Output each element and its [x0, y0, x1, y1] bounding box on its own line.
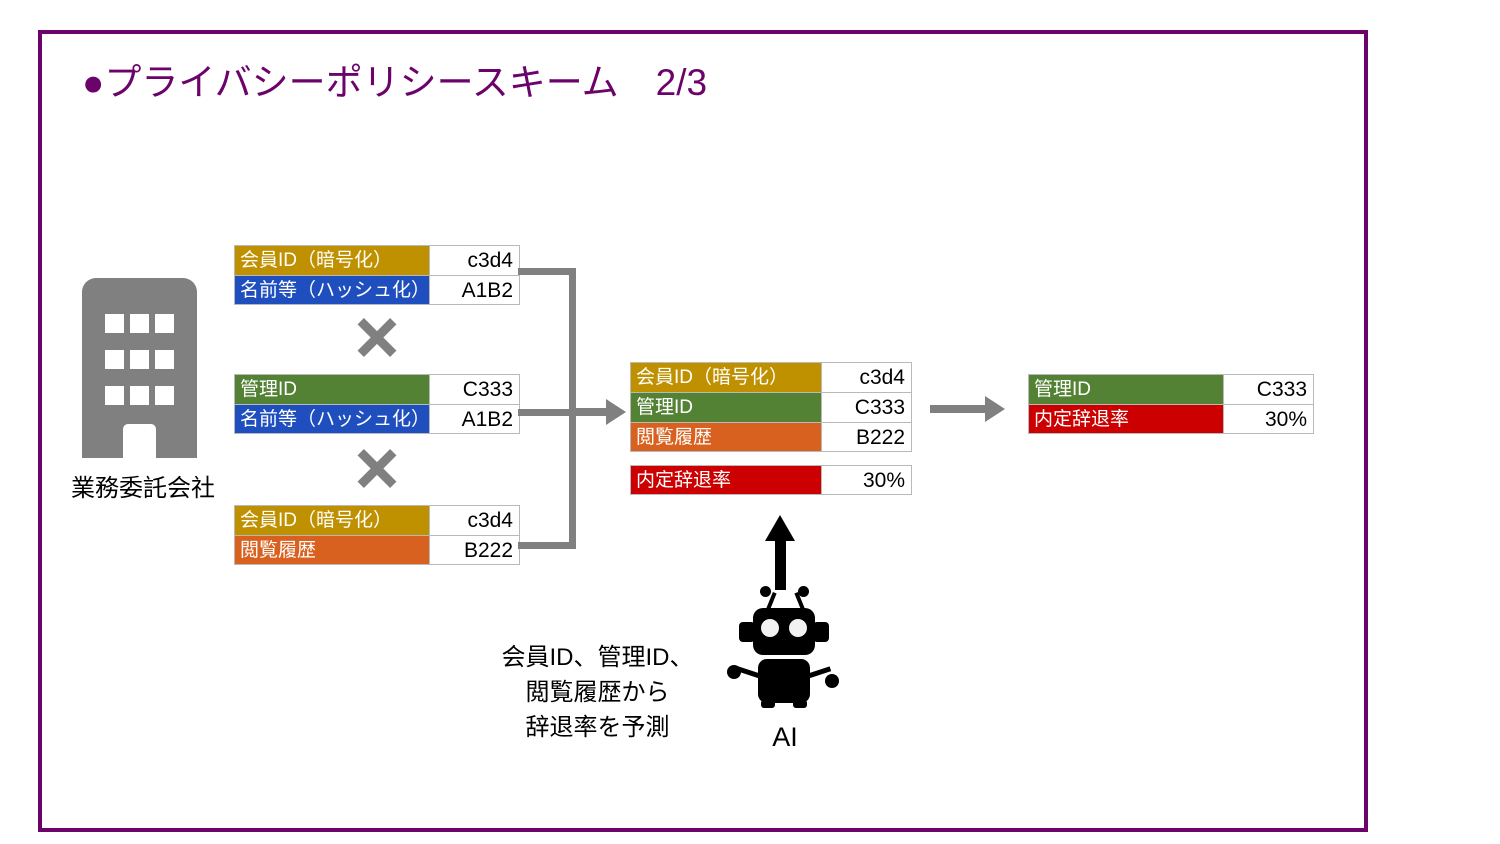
- table-row: 内定辞退率 30%: [630, 465, 912, 495]
- row-value: A1B2: [430, 275, 520, 305]
- admin-name-table: 管理ID C333 名前等（ハッシュ化） A1B2: [234, 374, 520, 434]
- row-value: 30%: [1224, 404, 1314, 434]
- row-key: 名前等（ハッシュ化）: [234, 275, 430, 305]
- row-key: 内定辞退率: [1028, 404, 1224, 434]
- member-name-table: 会員ID（暗号化） c3d4 名前等（ハッシュ化） A1B2: [234, 245, 520, 305]
- table-row: 内定辞退率 30%: [1028, 404, 1314, 434]
- building-window: [105, 386, 124, 405]
- prediction-table: 内定辞退率 30%: [630, 465, 912, 495]
- building-window: [130, 386, 149, 405]
- table-row: 閲覧履歴 B222: [630, 422, 912, 452]
- row-value: c3d4: [430, 245, 520, 275]
- prediction-arrow-up-icon: [765, 515, 795, 590]
- robot-icon: [725, 582, 843, 707]
- table-row: 会員ID（暗号化） c3d4: [630, 362, 912, 392]
- ai-caption-line: 会員ID、管理ID、: [485, 640, 710, 675]
- row-value: C333: [430, 374, 520, 404]
- row-key: 内定辞退率: [630, 465, 822, 495]
- row-value: B222: [430, 535, 520, 565]
- table-row: 管理ID C333: [1028, 374, 1314, 404]
- building-window: [130, 314, 149, 333]
- building-window: [105, 350, 124, 369]
- ai-caption-line: 辞退率を予測: [485, 710, 710, 745]
- row-value: 30%: [822, 465, 912, 495]
- row-key: 会員ID（暗号化）: [630, 362, 822, 392]
- building-window: [130, 350, 149, 369]
- row-key: 会員ID（暗号化）: [234, 245, 430, 275]
- row-value: c3d4: [430, 505, 520, 535]
- table-row: 名前等（ハッシュ化） A1B2: [234, 404, 520, 434]
- row-value: c3d4: [822, 362, 912, 392]
- ai-label: AI: [740, 722, 830, 753]
- row-key: 会員ID（暗号化）: [234, 505, 430, 535]
- row-value: C333: [1224, 374, 1314, 404]
- page-title: ●プライバシーポリシースキーム 2/3: [82, 60, 707, 106]
- table-row: 管理ID C333: [630, 392, 912, 422]
- row-key: 閲覧履歴: [234, 535, 430, 565]
- table-row: 管理ID C333: [234, 374, 520, 404]
- joined-table: 会員ID（暗号化） c3d4 管理ID C333 閲覧履歴 B222: [630, 362, 912, 452]
- row-key: 名前等（ハッシュ化）: [234, 404, 430, 434]
- building-window: [155, 386, 174, 405]
- ai-caption: 会員ID、管理ID、 閲覧履歴から 辞退率を予測: [485, 640, 710, 745]
- building-window: [105, 314, 124, 333]
- row-value: A1B2: [430, 404, 520, 434]
- building-icon: [82, 278, 197, 458]
- building-window: [155, 314, 174, 333]
- row-key: 閲覧履歴: [630, 422, 822, 452]
- table-row: 会員ID（暗号化） c3d4: [234, 245, 520, 275]
- building-window: [155, 350, 174, 369]
- x-mark-icon: [354, 314, 400, 360]
- output-table: 管理ID C333 内定辞退率 30%: [1028, 374, 1314, 434]
- table-row: 閲覧履歴 B222: [234, 535, 520, 565]
- building-door: [123, 424, 156, 458]
- flow-arrow-right-icon: [930, 396, 1014, 422]
- row-value: C333: [822, 392, 912, 422]
- ai-caption-line: 閲覧履歴から: [485, 675, 710, 710]
- table-row: 会員ID（暗号化） c3d4: [234, 505, 520, 535]
- row-key: 管理ID: [1028, 374, 1224, 404]
- table-row: 名前等（ハッシュ化） A1B2: [234, 275, 520, 305]
- slide-canvas: ●プライバシーポリシースキーム 2/3 業務委託会社 会員ID（暗号化） c3d…: [0, 0, 1500, 844]
- row-value: B222: [822, 422, 912, 452]
- member-history-table: 会員ID（暗号化） c3d4 閲覧履歴 B222: [234, 505, 520, 565]
- x-mark-icon: [354, 445, 400, 491]
- row-key: 管理ID: [234, 374, 430, 404]
- entity-label: 業務委託会社: [58, 468, 228, 503]
- merge-connector: [518, 268, 628, 558]
- row-key: 管理ID: [630, 392, 822, 422]
